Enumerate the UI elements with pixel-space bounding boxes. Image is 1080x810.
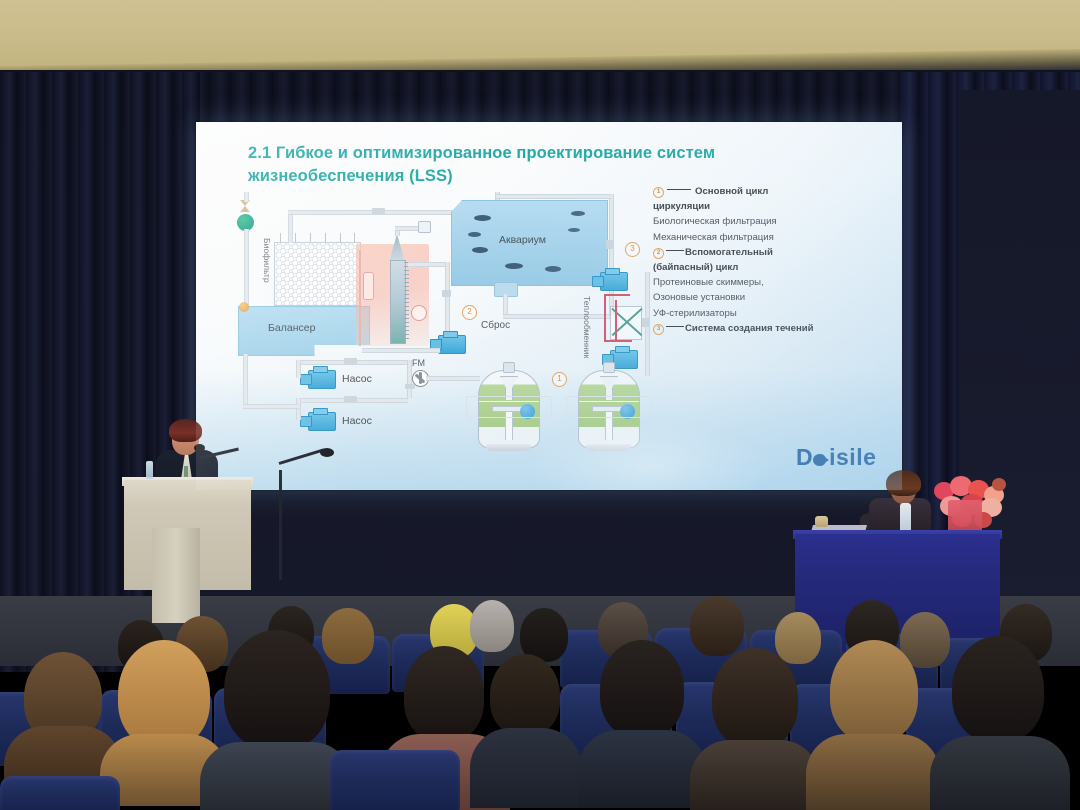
pump-2-label: Насос [342, 415, 372, 427]
seat [0, 776, 120, 810]
hot-line [604, 294, 606, 342]
audience-shoulders [930, 736, 1070, 810]
pipe-segment [426, 376, 480, 381]
filter-manifold [466, 396, 552, 418]
audience-head [600, 640, 684, 738]
pipe-segment [496, 194, 611, 199]
audience-head [490, 654, 560, 736]
audience-head [830, 640, 918, 742]
pipe-segment [503, 314, 611, 319]
sand-filter-2 [578, 360, 638, 446]
pipe-segment [296, 360, 301, 378]
podium-base [152, 528, 200, 623]
audience-shoulders [806, 734, 940, 810]
marker-2-diagram-icon: 2 [462, 305, 477, 320]
pipe-segment [503, 294, 508, 316]
pipe-segment [362, 348, 440, 353]
hot-line [604, 294, 630, 296]
pipe-segment [408, 262, 448, 267]
flow-meter-label: FM [412, 358, 425, 368]
current-pump [600, 272, 628, 291]
bypass-pump [438, 335, 466, 354]
fish-icon [472, 247, 488, 253]
hot-line [604, 340, 632, 342]
skimmer-valve-icon [418, 221, 431, 233]
ceiling [0, 0, 1080, 78]
filter-base [586, 444, 631, 451]
fish-icon [571, 211, 585, 216]
fish-icon [468, 232, 481, 237]
audience-head [952, 636, 1044, 742]
skimmer-scale-icon [404, 262, 409, 340]
sand-filter-1 [478, 360, 538, 446]
ozone-unit-icon [363, 272, 374, 300]
audience-head [224, 630, 330, 750]
audience-shoulders [690, 740, 820, 810]
marker-1-diagram-icon: 1 [552, 372, 567, 387]
audience-head [118, 640, 210, 748]
audience-head [404, 646, 484, 742]
pipe-segment [609, 194, 614, 316]
pipe-fitting-icon [606, 240, 614, 249]
marker-3-diagram-icon: 3 [625, 242, 640, 257]
audience-head [775, 612, 821, 664]
filter-base [486, 444, 531, 451]
pipe-segment [244, 192, 249, 202]
pump-1 [308, 370, 336, 389]
seat [330, 750, 460, 810]
pipe-segment [243, 404, 299, 409]
water-bottle-podium [146, 461, 153, 479]
balancer-port-icon [239, 302, 249, 312]
pipe-fitting-icon [344, 358, 357, 364]
fish-logo-icon [813, 452, 830, 467]
filter-top-valve-icon [603, 362, 615, 373]
pipe-fitting-icon [344, 396, 357, 402]
audience-shoulders [578, 730, 706, 808]
fish-icon [545, 266, 561, 272]
pipe-segment [243, 354, 248, 406]
hot-line [615, 300, 617, 340]
cup-on-table [815, 516, 828, 527]
pipe-fitting-icon [372, 208, 385, 214]
audience-head [322, 608, 374, 664]
audience-head [712, 648, 798, 748]
fish-icon [505, 263, 523, 269]
drain-label: Сброс [481, 320, 510, 331]
audience-shoulders [470, 728, 582, 808]
heat-exchanger-label: Теплообменник [582, 296, 592, 358]
pump-1-label: Насос [342, 373, 372, 385]
presentation-photo: 2.1 Гибкое и оптимизированное проектиров… [0, 0, 1080, 810]
projection-screen: 2.1 Гибкое и оптимизированное проектиров… [196, 122, 902, 490]
audience-head [470, 600, 514, 652]
balancer-label: Балансер [268, 322, 315, 334]
pipe-fitting-icon [642, 318, 650, 327]
pipe-fitting-icon [405, 384, 415, 389]
pipe-segment [445, 262, 450, 340]
fish-icon [568, 228, 580, 232]
pump-2 [308, 412, 336, 431]
brand-logo: Disile [796, 444, 876, 471]
pipe-segment [359, 250, 361, 346]
filter-manifold [566, 396, 652, 418]
biofilter-label: Биофильтр [262, 238, 272, 283]
process-flow-diagram: Биофильтр Балансер 2 [196, 122, 902, 490]
biofilter-media [274, 242, 361, 306]
fish-icon [474, 215, 491, 221]
aquarium-label: Аквариум [499, 234, 546, 246]
filter-top-valve-icon [503, 362, 515, 373]
audience-head [690, 596, 744, 656]
pipe-fitting-icon [442, 290, 451, 297]
podium [124, 480, 251, 590]
circulation-pump-icon [411, 305, 427, 321]
